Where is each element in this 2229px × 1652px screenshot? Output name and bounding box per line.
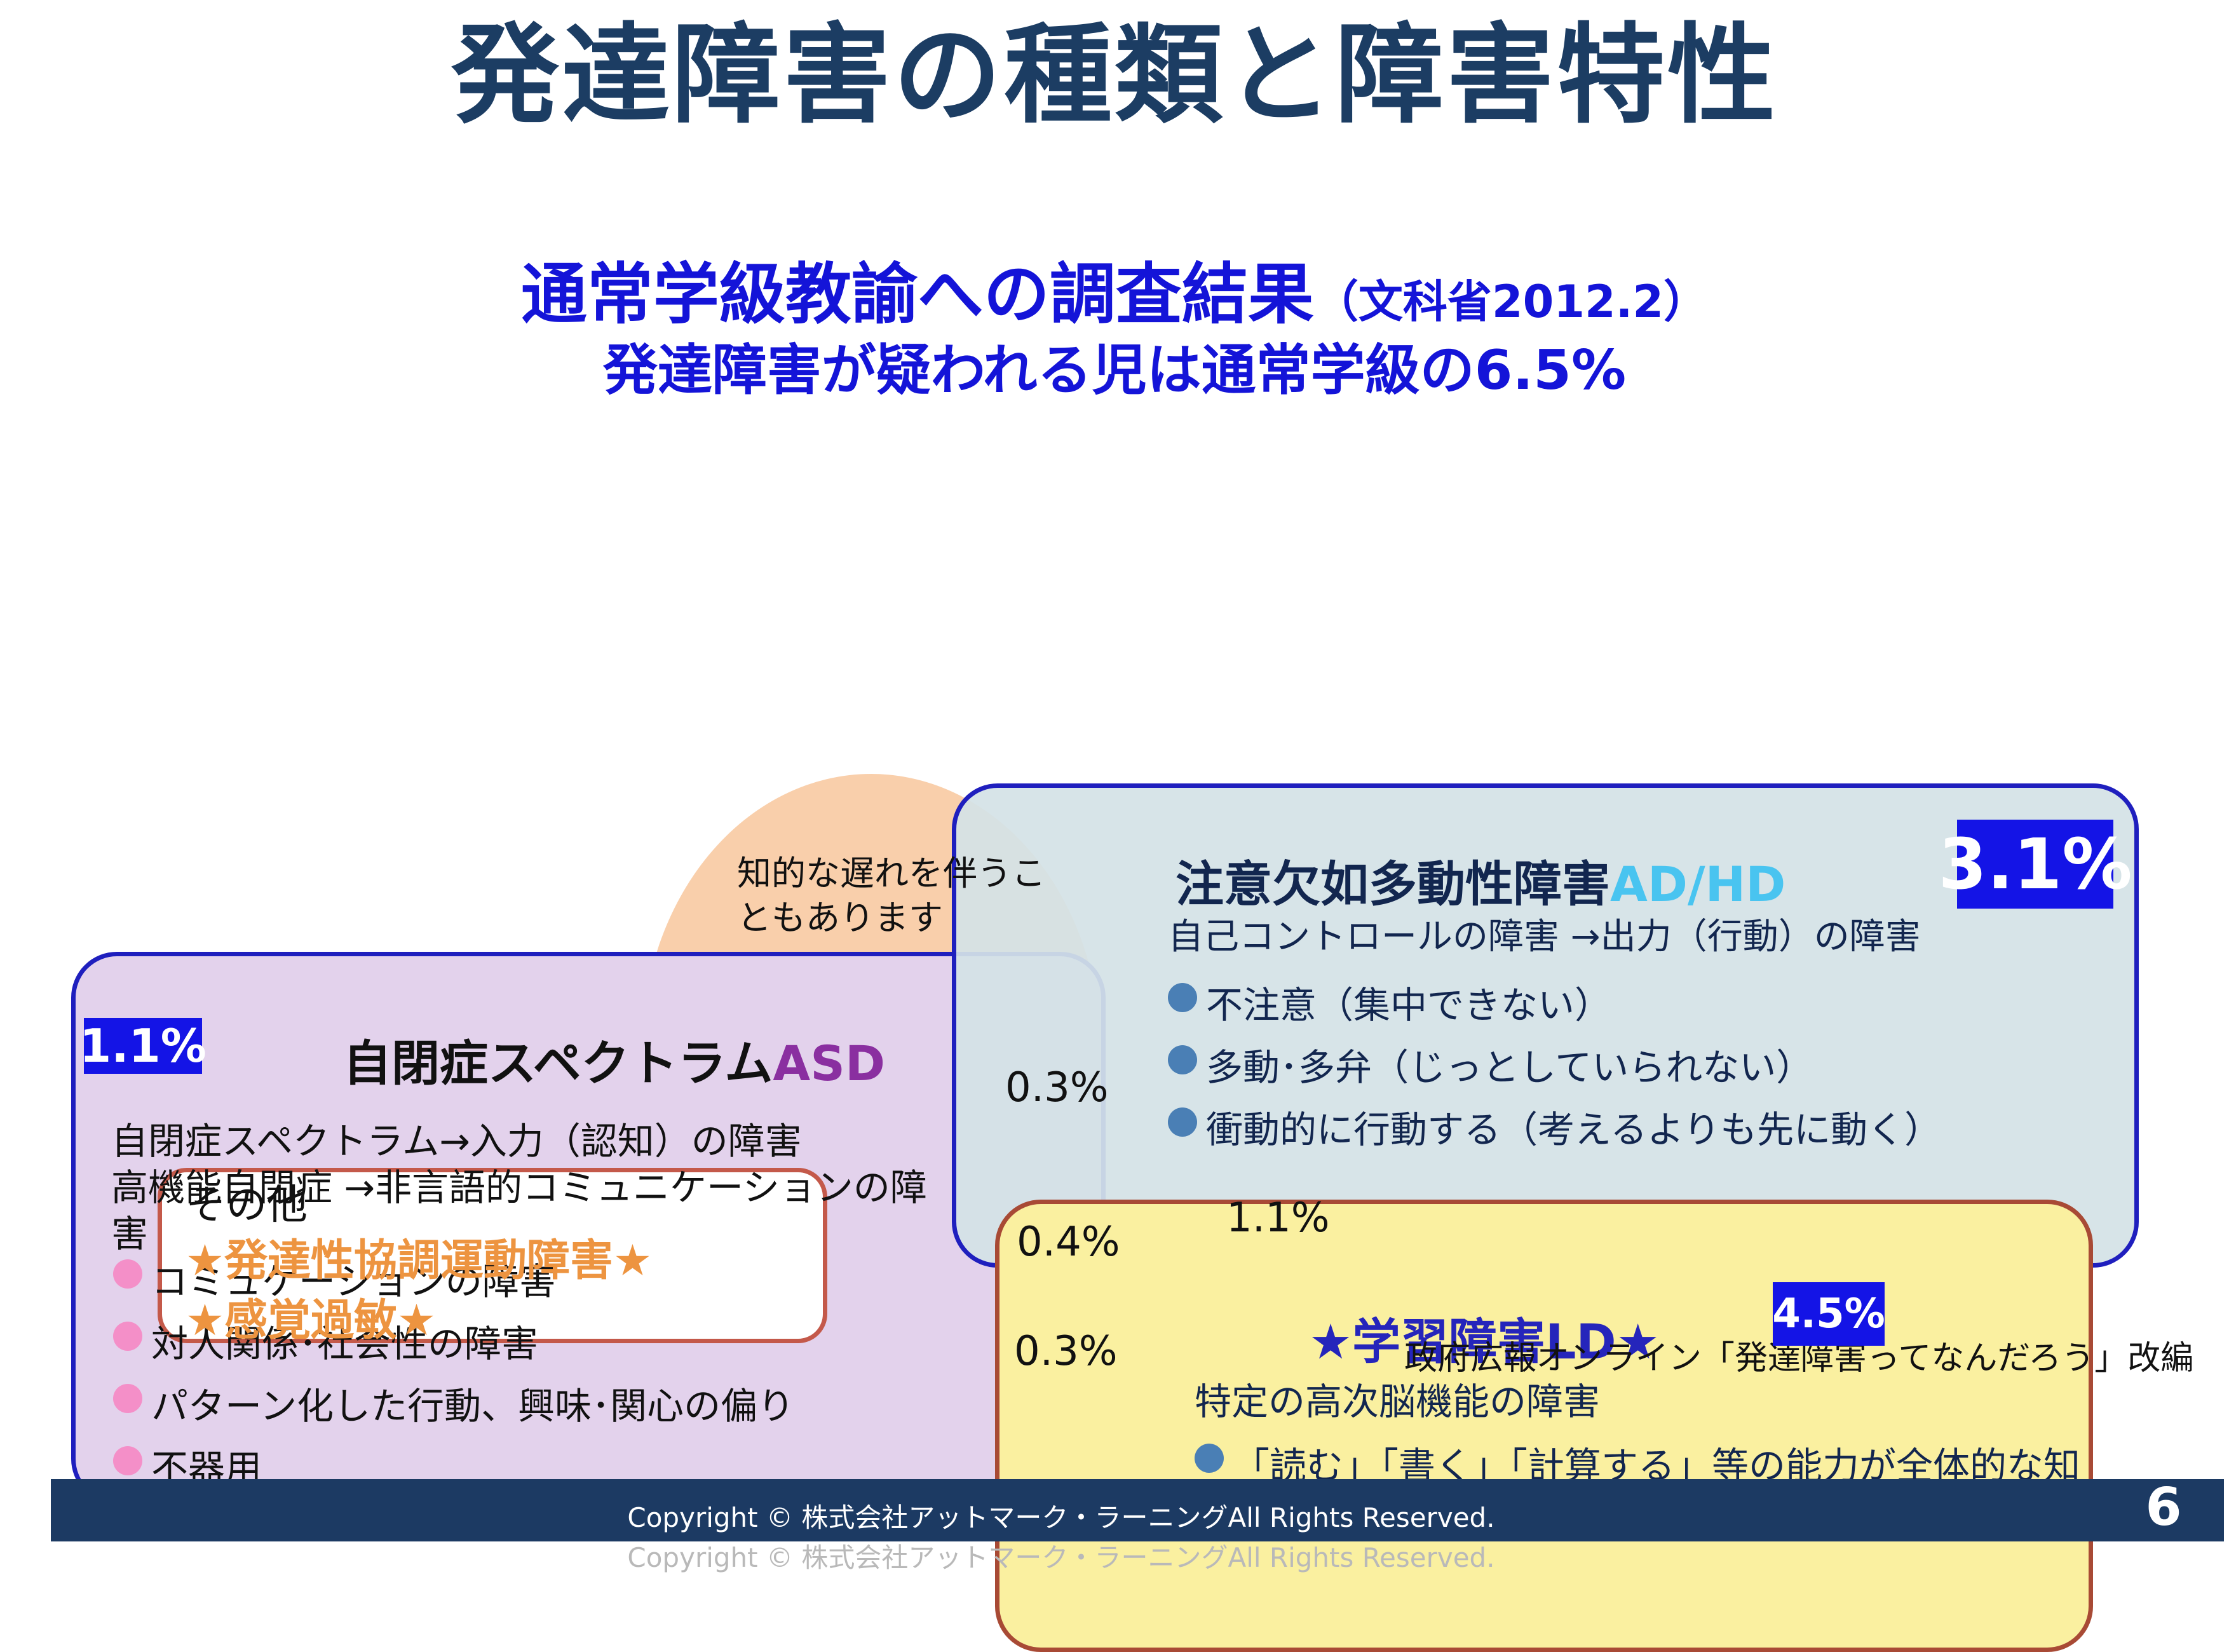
bullet-dot-icon [1168, 1107, 1197, 1137]
ld-percentage-badge: 4.5% [1773, 1282, 1885, 1346]
footer-copyright-ghost: Copyright © 株式会社アットマーク・ラーニングAll Rights R… [51, 1536, 2071, 1575]
subtitle-source-text: （文科省2012.2） [1314, 276, 1708, 328]
bullet-dot-icon [113, 1384, 142, 1413]
adhd-bullet-text: 多動･多弁（じっとしていられない） [1206, 1038, 1813, 1091]
subtitle-primary: 通常学級教諭への調査結果（文科省2012.2） [0, 240, 2229, 336]
other-item-dcd: ★発達性協調運動障害★ [186, 1225, 652, 1288]
subtitle-main-text: 通常学級教諭への調査結果 [521, 255, 1314, 333]
intellectual-delay-label: 知的な遅れを伴うこともあります [737, 851, 1067, 940]
overlap-asd-adhd: 0.3% [1005, 1064, 1109, 1111]
bullet-dot-icon [113, 1322, 142, 1351]
asd-title-abbr: ASD [773, 1035, 885, 1092]
other-item-sensory: ★感覚過敏★ [186, 1285, 436, 1348]
bullet-dot-icon [113, 1259, 142, 1289]
asd-title: 自閉症スペクトラムASD [343, 1024, 885, 1094]
overlap-asd-ld: 0.4% [1017, 1219, 1120, 1266]
asd-bullet-text: パターン化した行動、興味･関心の偏り [151, 1376, 794, 1430]
bullet-dot-icon [1168, 983, 1197, 1012]
venn-diagram: 知的な遅れを伴うこともあります 1.1% 自閉症スペクトラムASD 自閉症スペク… [0, 381, 2229, 1303]
list-item: 不注意（集中できない） [1168, 975, 2121, 1029]
overlap-all-three: 1.1% [1226, 1195, 1330, 1242]
slide-canvas: 発達障害の種類と障害特性 通常学級教諭への調査結果（文科省2012.2） 発達障… [0, 0, 2229, 1575]
page-title: 発達障害の種類と障害特性 [0, 19, 2229, 133]
asd-percentage-badge: 1.1% [84, 1018, 202, 1074]
adhd-description: 自己コントロールの障害 →出力（行動）の障害 [1168, 915, 2108, 960]
bullet-dot-icon [1168, 1045, 1197, 1074]
adhd-bullet-text: 不注意（集中できない） [1206, 975, 1611, 1029]
list-item: 衝動的に行動する（考えるよりも先に動く） [1168, 1100, 2121, 1153]
adhd-title-abbr: AD/HD [1610, 856, 1785, 912]
adhd-bullet-list: 不注意（集中できない） 多動･多弁（じっとしていられない） 衝動的に行動する（考… [1168, 975, 2121, 1162]
ld-description: 特定の高次脳機能の障害 [1195, 1379, 2078, 1425]
adhd-percentage-badge: 3.1% [1957, 820, 2113, 909]
ld-region[interactable] [995, 1200, 2093, 1652]
page-number: 6 [2132, 1477, 2195, 1538]
other-label: その他 [186, 1172, 308, 1231]
list-item: パターン化した行動、興味･関心の偏り [113, 1376, 965, 1430]
overlap-asd-ld-lower: 0.3% [1014, 1328, 1118, 1375]
adhd-title: 注意欠如多動性障害AD/HD [1175, 845, 1785, 915]
asd-title-main: 自閉症スペクトラム [343, 1035, 773, 1092]
adhd-bullet-text: 衝動的に行動する（考えるよりも先に動く） [1206, 1100, 1941, 1153]
list-item: 多動･多弁（じっとしていられない） [1168, 1038, 2121, 1091]
bullet-dot-icon [1195, 1444, 1224, 1473]
bullet-dot-icon [113, 1446, 142, 1475]
adhd-title-main: 注意欠如多動性障害 [1175, 856, 1610, 912]
footer-copyright: Copyright © 株式会社アットマーク・ラーニングAll Rights R… [51, 1496, 2071, 1535]
